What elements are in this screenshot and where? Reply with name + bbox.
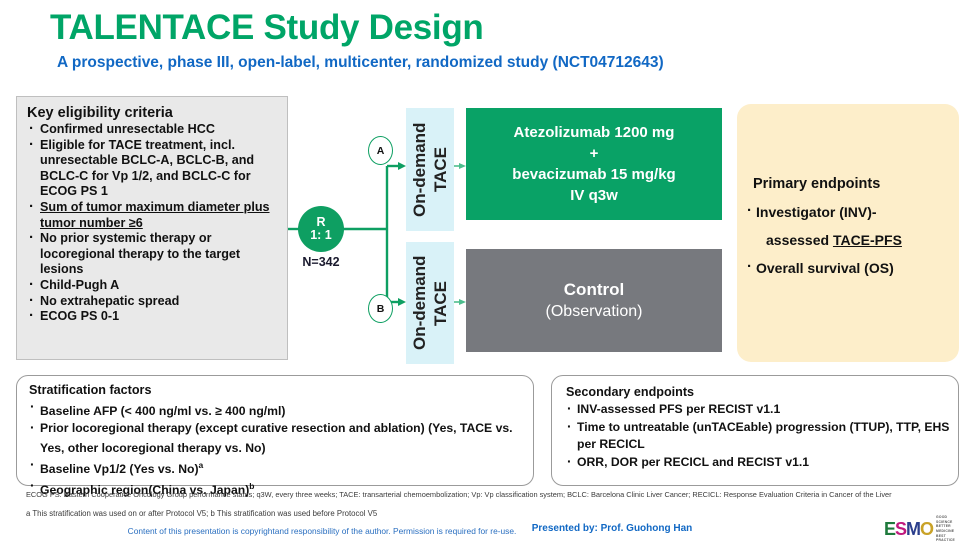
esmo-logo: ESMO GOOD SCIENCE BETTER MEDICINE BEST P… bbox=[884, 516, 962, 542]
arm-a-marker: A bbox=[368, 136, 393, 165]
secondary-endpoints-heading: Secondary endpoints bbox=[566, 385, 950, 399]
list-item: Time to untreatable (unTACEable) progres… bbox=[566, 419, 950, 454]
esmo-wordmark: ESMO bbox=[884, 520, 933, 538]
on-demand-tace-box-arm-a: On-demand TACE bbox=[406, 108, 454, 231]
abbreviations-footnote: ECOG PS: Eastern Cooperative Oncology Gr… bbox=[26, 490, 926, 499]
key-eligibility-panel: Key eligibility criteria Confirmed unres… bbox=[16, 96, 288, 360]
slide-canvas: TALENTACE Study Design A prospective, ph… bbox=[0, 0, 974, 552]
on-demand-tace-box-arm-b: On-demand TACE bbox=[406, 242, 454, 364]
list-item: Sum of tumor maximum diameter plus tumor… bbox=[27, 200, 281, 231]
primary-endpoints-heading: Primary endpoints bbox=[747, 176, 949, 192]
list-item: Baseline Vp1/2 (Yes vs. No)a bbox=[29, 457, 525, 478]
list-item: ECOG PS 0-1 bbox=[27, 309, 281, 325]
eligibility-heading: Key eligibility criteria bbox=[27, 105, 281, 121]
list-item: Eligible for TACE treatment, incl. unres… bbox=[27, 138, 281, 200]
list-item: INV-assessed PFS per RECIST v1.1 bbox=[566, 401, 950, 419]
protocol-version-footnote: a This stratification was used on or aft… bbox=[26, 509, 926, 519]
list-item: Overall survival (OS) bbox=[747, 254, 949, 282]
randomization-node: R 1: 1 bbox=[298, 206, 344, 252]
primary-endpoints-list: Investigator (INV)- assessed TACE-PFS Ov… bbox=[747, 198, 949, 282]
randomization-label-r: R bbox=[316, 216, 325, 230]
stratification-factors-panel: Stratification factors Baseline AFP (< 4… bbox=[16, 375, 534, 486]
page-subtitle: A prospective, phase III, open-label, mu… bbox=[57, 54, 664, 72]
list-item: Baseline AFP (< 400 ng/ml vs. ≥ 400 ng/m… bbox=[29, 399, 525, 420]
arm-b-subtitle: (Observation) bbox=[546, 301, 643, 322]
esmo-tagline: GOOD SCIENCE BETTER MEDICINE BEST PRACTI… bbox=[936, 515, 962, 543]
eligibility-list: Confirmed unresectable HCC Eligible for … bbox=[27, 122, 281, 325]
tace-label: On-demand TACE bbox=[409, 242, 451, 364]
stratification-list: Baseline AFP (< 400 ng/ml vs. ≥ 400 ng/m… bbox=[29, 399, 525, 498]
arm-b-title: Control bbox=[564, 279, 624, 301]
randomization-ratio: 1: 1 bbox=[310, 229, 332, 243]
arm-b-control-box: Control (Observation) bbox=[466, 249, 722, 352]
secondary-endpoints-panel: Secondary endpoints INV-assessed PFS per… bbox=[551, 375, 959, 486]
arm-a-treatment-box: Atezolizumab 1200 mg + bevacizumab 15 mg… bbox=[466, 108, 722, 220]
list-item: No extrahepatic spread bbox=[27, 294, 281, 310]
list-item: Investigator (INV)- assessed TACE-PFS bbox=[747, 198, 949, 254]
arm-a-treatment-text: Atezolizumab 1200 mg + bevacizumab 15 mg… bbox=[512, 122, 675, 206]
primary-endpoints-panel: Primary endpoints Investigator (INV)- as… bbox=[737, 104, 959, 362]
stratification-heading: Stratification factors bbox=[29, 383, 525, 397]
arm-b-marker: B bbox=[368, 294, 393, 323]
page-title: TALENTACE Study Design bbox=[50, 8, 484, 48]
list-item: ORR, DOR per RECICL and RECIST v1.1 bbox=[566, 454, 950, 472]
list-item: Confirmed unresectable HCC bbox=[27, 122, 281, 138]
tace-label: On-demand TACE bbox=[409, 108, 451, 231]
secondary-endpoints-list: INV-assessed PFS per RECIST v1.1 Time to… bbox=[566, 401, 950, 471]
list-item: Child-Pugh A bbox=[27, 278, 281, 294]
tace-pfs-underlined: TACE-PFS bbox=[833, 232, 902, 248]
list-item: No prior systemic therapy or locoregiona… bbox=[27, 231, 281, 278]
list-item: Prior locoregional therapy (except curat… bbox=[29, 420, 525, 457]
presenter-credit: Presented by: Prof. Guohong Han bbox=[492, 523, 732, 534]
total-sample-size: N=342 bbox=[288, 255, 354, 269]
